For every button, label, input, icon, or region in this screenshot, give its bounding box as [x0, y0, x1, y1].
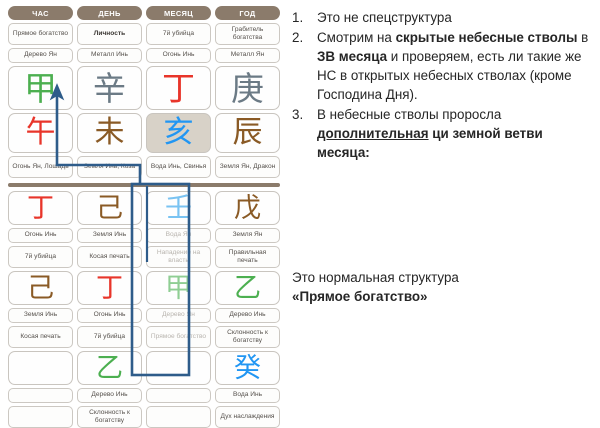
- hidden-element-3-day: Дерево Инь: [77, 388, 142, 403]
- branch-description-row: Огонь Ян, Лошадь Земля Инь, Коза Вода Ин…: [8, 153, 280, 178]
- hidden-element-2-month: Дерево Ян: [146, 308, 211, 323]
- earthly-branches-row: 午 未 亥 辰: [8, 110, 280, 153]
- notes-panel: Это не спецструктура Смотрим на скрытые …: [292, 8, 592, 163]
- hidden-elements-row-2: Земля Инь Огонь Инь Дерево Ян Дерево Инь: [8, 305, 280, 323]
- hidden-god-2-year: Склонность к богатству: [215, 326, 280, 348]
- hidden-stem-1-day: 己: [77, 191, 142, 225]
- heavenly-stem-year: 庚: [215, 66, 280, 110]
- glyph: 甲: [165, 275, 192, 302]
- hidden-element-3-year: Вода Инь: [215, 388, 280, 403]
- earthly-branch-year: 辰: [215, 113, 280, 153]
- hidden-stem-2-day: 丁: [77, 271, 142, 305]
- ten-god-day: Личность: [77, 23, 142, 45]
- hidden-element-3-hour: [8, 388, 73, 403]
- glyph: 己: [96, 195, 123, 222]
- hidden-elements-row-1: Огонь Инь Земля Инь Вода Ян Земля Ян: [8, 225, 280, 243]
- hidden-element-1-year: Земля Ян: [215, 228, 280, 243]
- heavenly-stem-month: 丁: [146, 66, 211, 110]
- glyph: 乙: [96, 355, 123, 382]
- stem-element-day: Металл Инь: [77, 48, 142, 63]
- glyph: 乙: [234, 275, 261, 302]
- glyph: 未: [95, 118, 125, 148]
- glyph: 丁: [96, 275, 123, 302]
- hidden-stem-1-month: 壬: [146, 191, 211, 225]
- glyph: 午: [26, 118, 56, 148]
- hidden-god-3-day: Склонность к богатству: [77, 406, 142, 428]
- hidden-god-1-year: Правильная печать: [215, 246, 280, 268]
- hidden-god-3-month: [146, 406, 211, 428]
- hidden-god-2-month: Прямое богатство: [146, 326, 211, 348]
- branch-desc-year: Земля Ян, Дракон: [215, 156, 280, 178]
- branch-desc-hour: Огонь Ян, Лошадь: [8, 156, 73, 178]
- hidden-stem-2-hour: 己: [8, 271, 73, 305]
- hidden-stem-2-month: 甲: [146, 271, 211, 305]
- hidden-stems-row-1: 丁 己 壬 戊: [8, 188, 280, 225]
- note-item-2: Смотрим на скрытые небесные стволы в ЗВ …: [317, 28, 592, 104]
- stem-element-month: Огонь Инь: [146, 48, 211, 63]
- closing-statement: Это нормальная структура«Прямое богатств…: [292, 268, 592, 307]
- ten-god-year: Грабитель богатства: [215, 23, 280, 45]
- hidden-god-1-day: Косая печать: [77, 246, 142, 268]
- glyph: 辛: [93, 72, 126, 105]
- bazi-chart-panel: ЧАС ДЕНЬ МЕСЯЦ ГОД Прямое богатство Личн…: [8, 6, 280, 396]
- glyph: 癸: [234, 355, 261, 382]
- branch-desc-month: Вода Инь, Свинья: [146, 156, 211, 178]
- glyph: 亥: [164, 118, 194, 148]
- hidden-stem-3-year: 癸: [215, 351, 280, 385]
- heavenly-stem-day: 辛: [77, 66, 142, 110]
- hidden-stem-3-hour: [8, 351, 73, 385]
- hidden-gods-row-2: Косая печать 7й убийца Прямое богатство …: [8, 323, 280, 348]
- hidden-stem-1-hour: 丁: [8, 191, 73, 225]
- hidden-elements-row-3: Дерево Инь Вода Инь: [8, 385, 280, 403]
- hidden-element-3-month: [146, 388, 211, 403]
- hidden-stem-1-year: 戊: [215, 191, 280, 225]
- hidden-stem-2-year: 乙: [215, 271, 280, 305]
- glyph: 甲: [24, 72, 57, 105]
- hidden-gods-row-1: 7й убийца Косая печать Нападение на влас…: [8, 243, 280, 268]
- branch-desc-day: Земля Инь, Коза: [77, 156, 142, 178]
- pillar-header-day: ДЕНЬ: [77, 6, 142, 20]
- glyph: 己: [27, 275, 54, 302]
- glyph: 壬: [165, 195, 192, 222]
- hidden-god-3-year: Дух наслаждения: [215, 406, 280, 428]
- hidden-god-2-day: 7й убийца: [77, 326, 142, 348]
- ten-gods-top-row: Прямое богатство Личность 7й убийца Граб…: [8, 20, 280, 45]
- hidden-element-1-day: Земля Инь: [77, 228, 142, 243]
- earthly-branch-hour: 午: [8, 113, 73, 153]
- notes-list: Это не спецструктура Смотрим на скрытые …: [292, 8, 592, 162]
- ten-god-hour: Прямое богатство: [8, 23, 73, 45]
- section-divider: [8, 183, 280, 187]
- earthly-branch-day: 未: [77, 113, 142, 153]
- hidden-element-1-hour: Огонь Инь: [8, 228, 73, 243]
- hidden-element-2-hour: Земля Инь: [8, 308, 73, 323]
- hidden-stems-row-3: 乙 癸: [8, 348, 280, 385]
- glyph: 庚: [231, 72, 264, 105]
- stem-element-hour: Дерево Ян: [8, 48, 73, 63]
- ten-god-month: 7й убийца: [146, 23, 211, 45]
- hidden-element-2-day: Огонь Инь: [77, 308, 142, 323]
- hidden-god-3-hour: [8, 406, 73, 428]
- stem-element-year: Металл Ян: [215, 48, 280, 63]
- hidden-god-1-month: Нападение на власть: [146, 246, 211, 268]
- pillar-header-month: МЕСЯЦ: [146, 6, 211, 20]
- pillar-header-hour: ЧАС: [8, 6, 73, 20]
- hidden-god-1-hour: 7й убийца: [8, 246, 73, 268]
- hidden-element-2-year: Дерево Инь: [215, 308, 280, 323]
- hidden-stems-row-2: 己 丁 甲 乙: [8, 268, 280, 305]
- hidden-stem-3-month: [146, 351, 211, 385]
- note-item-1: Это не спецструктура: [317, 8, 592, 27]
- hidden-stem-3-day: 乙: [77, 351, 142, 385]
- glyph: 丁: [27, 195, 54, 222]
- hidden-god-2-hour: Косая печать: [8, 326, 73, 348]
- pillar-header-year: ГОД: [215, 6, 280, 20]
- earthly-branch-month: 亥: [146, 113, 211, 153]
- stem-element-row: Дерево Ян Металл Инь Огонь Инь Металл Ян: [8, 45, 280, 63]
- glyph: 丁: [162, 72, 195, 105]
- note-item-3: В небесные стволы проросла дополнительна…: [317, 105, 592, 162]
- glyph: 辰: [233, 118, 263, 148]
- hidden-element-1-month: Вода Ян: [146, 228, 211, 243]
- heavenly-stem-hour: 甲: [8, 66, 73, 110]
- hidden-gods-row-3: Склонность к богатству Дух наслаждения: [8, 403, 280, 428]
- pillar-header-row: ЧАС ДЕНЬ МЕСЯЦ ГОД: [8, 6, 280, 20]
- glyph: 戊: [234, 195, 261, 222]
- heavenly-stems-row: 甲 辛 丁 庚: [8, 63, 280, 110]
